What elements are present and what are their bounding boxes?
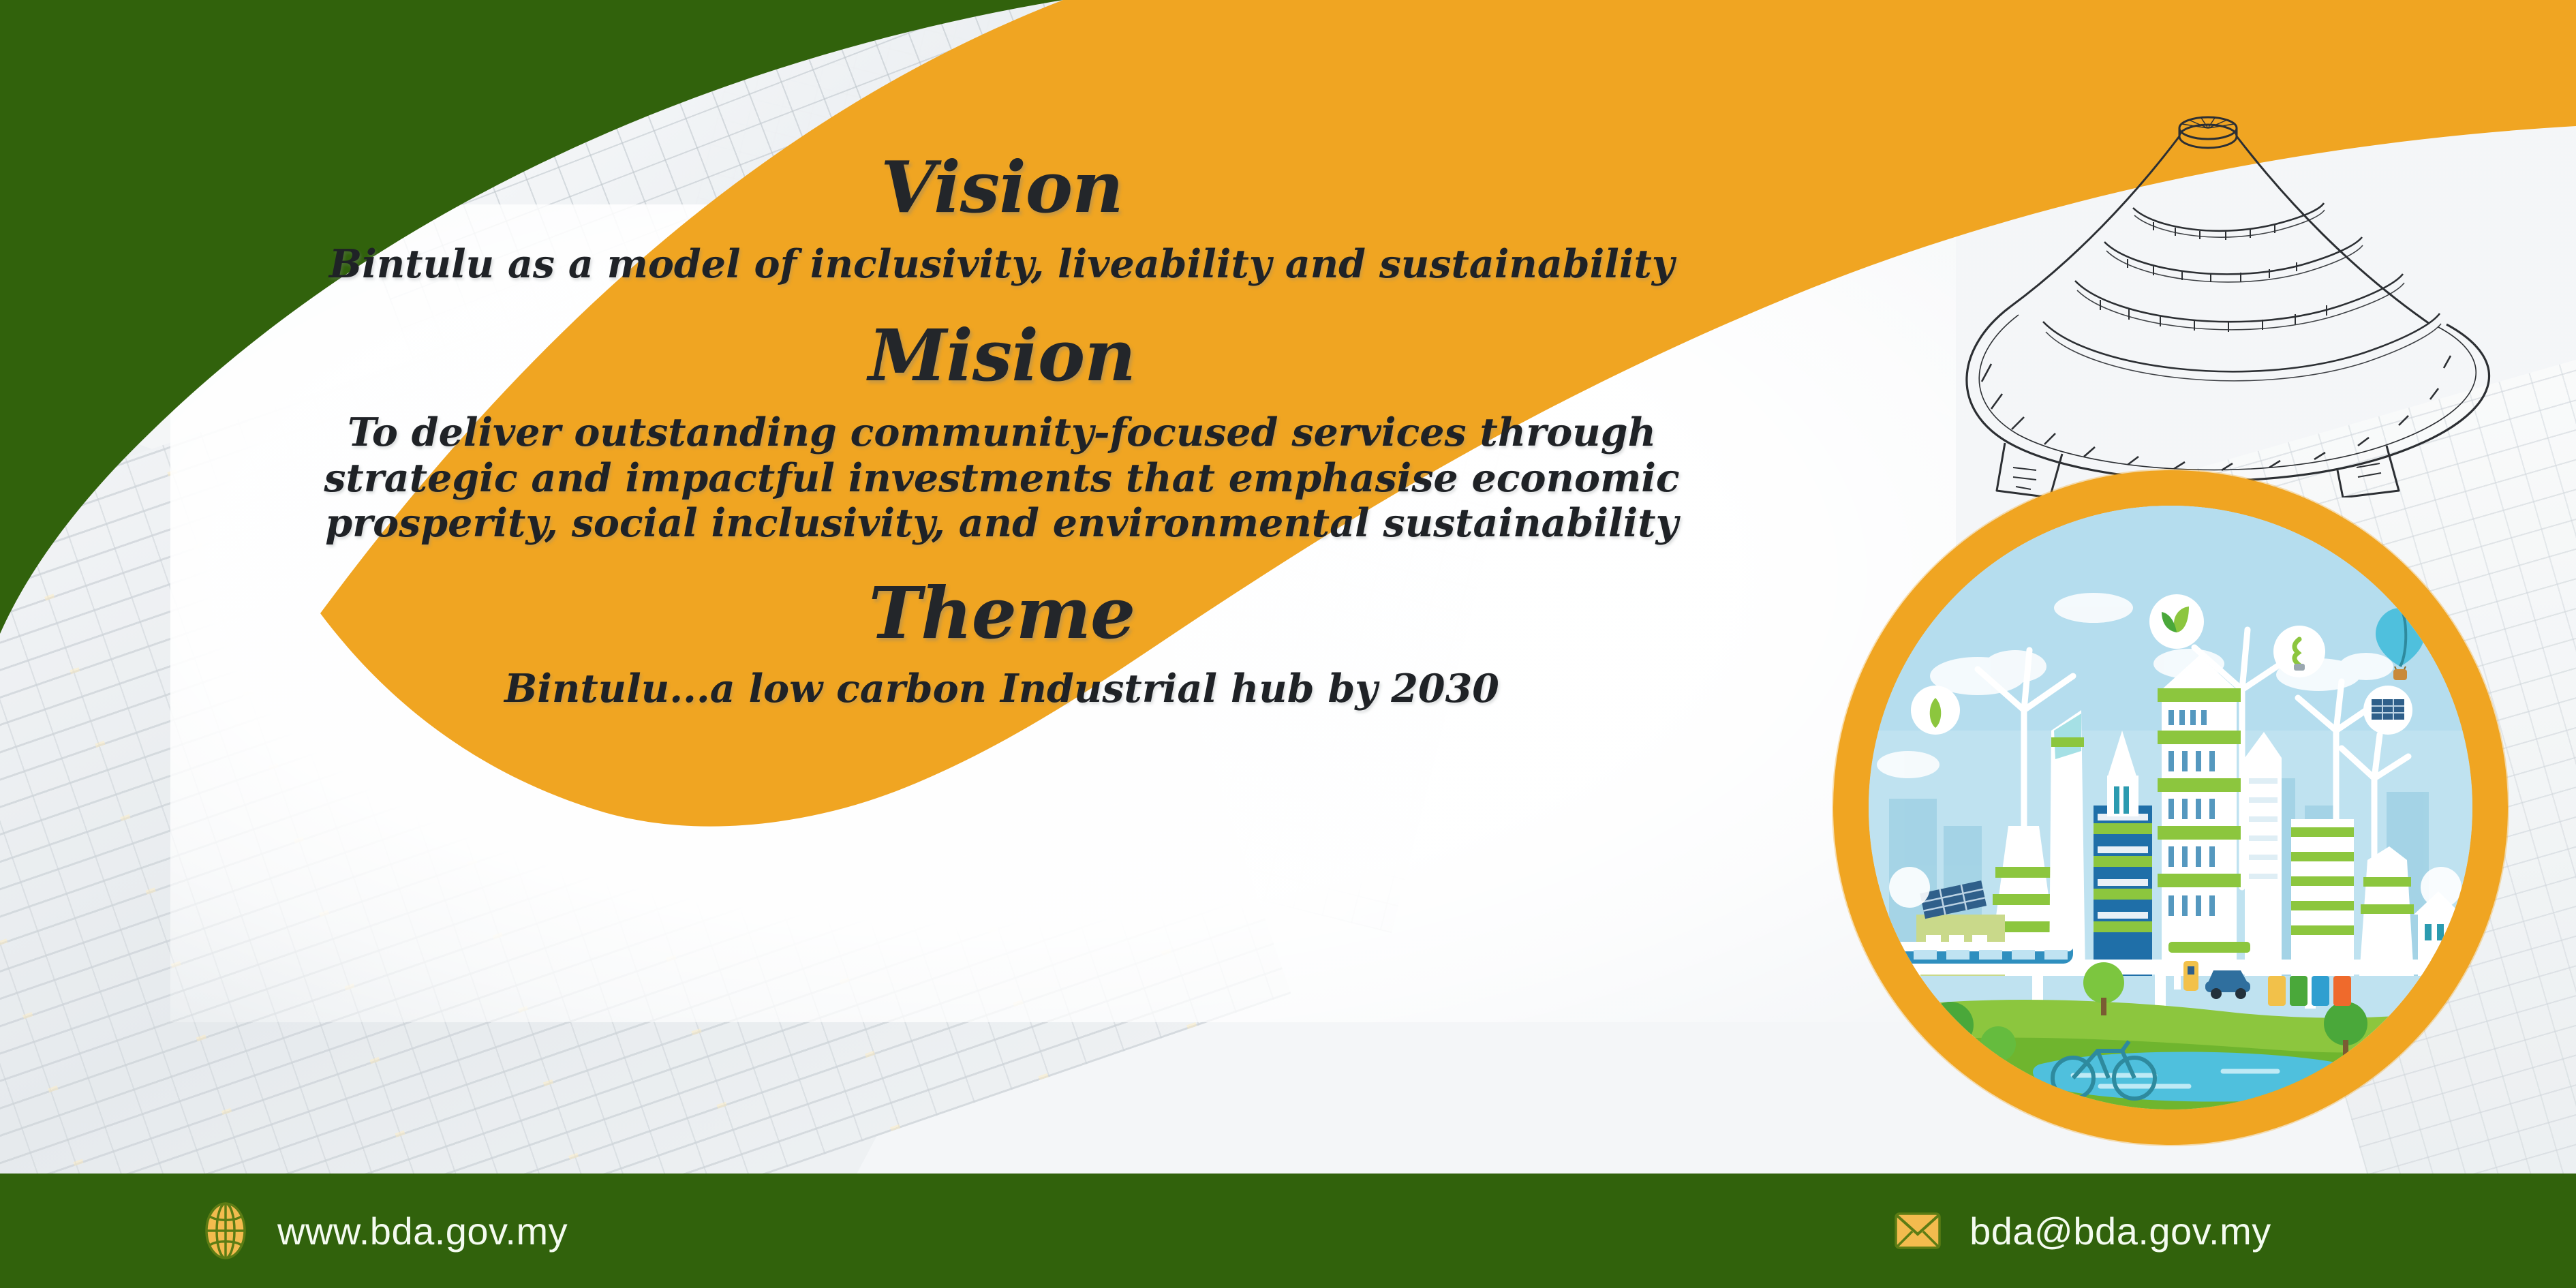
theme-statement: Bintulu...a low carbon Industrial hub by… (225, 666, 1779, 711)
eco-city-artwork (1869, 506, 2472, 1109)
bda-vision-mission-banner: Vision Bintulu as a model of inclusivity… (0, 0, 2576, 1288)
website-label: www.bda.gov.my (277, 1209, 568, 1253)
eco-city-badge (1833, 470, 2508, 1145)
mission-heading: Mision (225, 318, 1779, 393)
email-label: bda@bda.gov.my (1969, 1209, 2271, 1253)
vision-statement: Bintulu as a model of inclusivity, livea… (225, 242, 1779, 287)
email-contact[interactable]: bda@bda.gov.my (1893, 1201, 2271, 1260)
eco-city-illustration (1869, 506, 2472, 1109)
mission-statement-line-2: strategic and impactful investments that… (225, 456, 1779, 501)
envelope-icon (1893, 1201, 1942, 1260)
mission-statement-line-3: prosperity, social inclusivity, and envi… (225, 501, 1779, 546)
vision-heading: Vision (225, 150, 1779, 224)
vision-mission-theme-text: Vision Bintulu as a model of inclusivity… (225, 150, 1779, 711)
contact-footer-bar: www.bda.gov.my bda@bda.gov.my (0, 1174, 2576, 1288)
mission-statement-line-1: To deliver outstanding community-focused… (225, 410, 1779, 455)
website-contact[interactable]: www.bda.gov.my (201, 1201, 568, 1260)
theme-heading: Theme (225, 576, 1779, 650)
globe-icon (201, 1201, 250, 1260)
landmark-building-icon (1929, 89, 2576, 497)
